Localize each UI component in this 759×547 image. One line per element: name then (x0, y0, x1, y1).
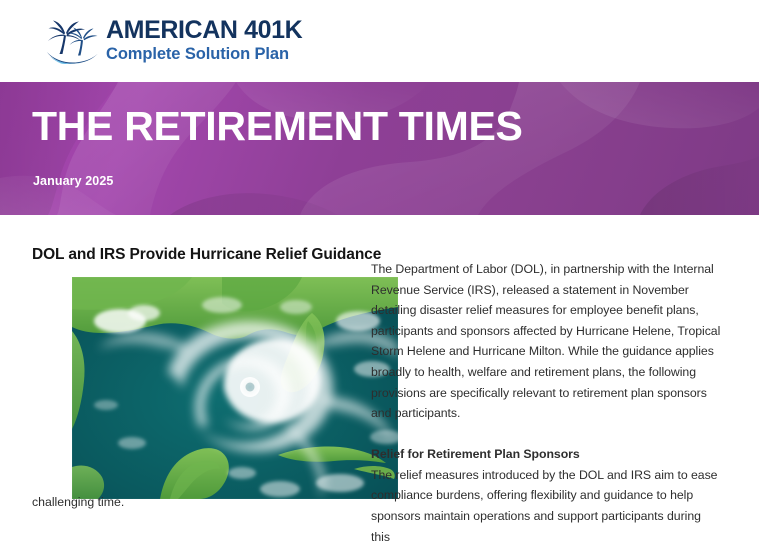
brand-title: AMERICAN 401K (106, 18, 302, 44)
article-paragraph: The Department of Labor (DOL), in partne… (371, 259, 723, 424)
masthead-title: THE RETIREMENT TIMES (32, 106, 523, 147)
article-headline: DOL and IRS Provide Hurricane Relief Gui… (32, 246, 381, 264)
brand-tagline: Complete Solution Plan (106, 45, 302, 64)
article-subheading: Relief for Retirement Plan Sponsors (371, 444, 723, 465)
brand-logo[interactable]: AMERICAN 401K Complete Solution Plan (44, 18, 302, 64)
palm-tree-wave-icon (44, 18, 100, 64)
brand-wordmark: AMERICAN 401K Complete Solution Plan (106, 18, 302, 63)
masthead-banner: THE RETIREMENT TIMES January 2025 (0, 82, 759, 215)
article-wrap-tail: challenging time. (32, 492, 124, 513)
site-header: AMERICAN 401K Complete Solution Plan (0, 0, 759, 82)
article-body-column: The Department of Labor (DOL), in partne… (371, 259, 723, 547)
masthead-issue-date: January 2025 (33, 174, 113, 188)
hurricane-satellite-photo (72, 277, 398, 499)
article-paragraph-2: The relief measures introduced by the DO… (371, 465, 723, 547)
